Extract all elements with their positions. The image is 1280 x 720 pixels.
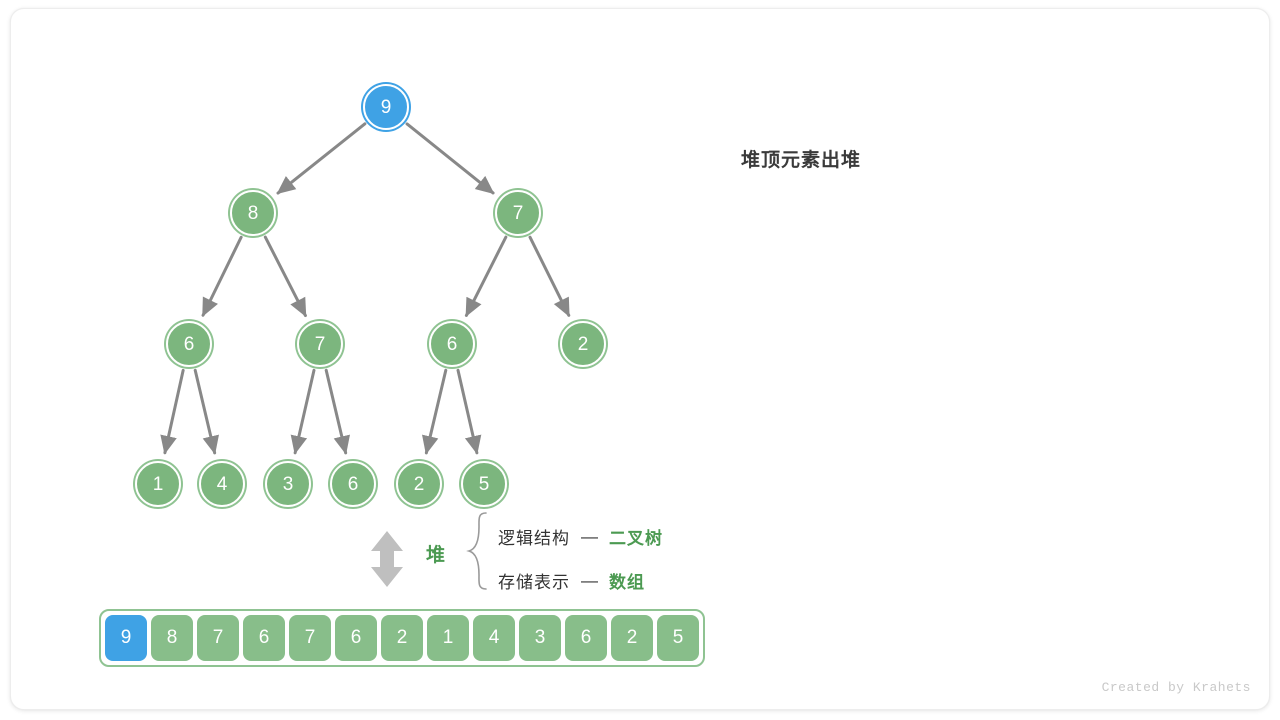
credit-text: Created by Krahets bbox=[1102, 680, 1251, 695]
diagram-card: 9876762143625 堆顶元素出堆 堆 逻辑结构 — 二叉树 存储表示 —… bbox=[10, 8, 1270, 710]
tree-node-1: 8 bbox=[230, 190, 276, 236]
brace-icon bbox=[466, 511, 492, 591]
legend-row-logical: 逻辑结构 — 二叉树 bbox=[498, 524, 663, 549]
array-cell-2: 7 bbox=[197, 615, 239, 661]
array-cell-9: 3 bbox=[519, 615, 561, 661]
array-cell-6: 2 bbox=[381, 615, 423, 661]
bidirectional-arrow-icon bbox=[366, 529, 408, 589]
tree-node-value: 2 bbox=[414, 475, 425, 494]
tree-edge bbox=[195, 370, 214, 453]
legend-dash: — bbox=[581, 527, 598, 547]
tree-node-value: 6 bbox=[184, 335, 195, 354]
tree-edge bbox=[265, 237, 305, 315]
legend-value: 数组 bbox=[609, 568, 645, 593]
tree-node-value: 1 bbox=[153, 475, 164, 494]
tree-node-2: 7 bbox=[495, 190, 541, 236]
tree-node-6: 2 bbox=[560, 321, 606, 367]
tree-edge bbox=[426, 370, 445, 453]
tree-edge bbox=[466, 237, 505, 315]
tree-edge bbox=[458, 370, 477, 452]
legend-key: 逻辑结构 bbox=[498, 524, 570, 549]
tree-node-value: 5 bbox=[479, 475, 490, 494]
legend-row-storage: 存储表示 — 数组 bbox=[498, 568, 645, 593]
array-cell-3: 6 bbox=[243, 615, 285, 661]
tree-node-5: 6 bbox=[429, 321, 475, 367]
page-title: 堆顶元素出堆 bbox=[741, 145, 861, 172]
array-cell-0: 9 bbox=[105, 615, 147, 661]
array-cell-4: 7 bbox=[289, 615, 331, 661]
array-cell-10: 6 bbox=[565, 615, 607, 661]
array-cell-5: 6 bbox=[335, 615, 377, 661]
legend-key: 存储表示 bbox=[498, 568, 570, 593]
tree-edge bbox=[295, 370, 314, 452]
array-cell-12: 5 bbox=[657, 615, 699, 661]
tree-edge bbox=[407, 124, 493, 193]
tree-node-8: 4 bbox=[199, 461, 245, 507]
tree-node-3: 6 bbox=[166, 321, 212, 367]
tree-edge bbox=[165, 370, 183, 452]
tree-node-0: 9 bbox=[363, 84, 409, 130]
tree-node-value: 7 bbox=[513, 204, 524, 223]
tree-node-12: 5 bbox=[461, 461, 507, 507]
tree-node-value: 2 bbox=[578, 335, 589, 354]
array-cell-8: 4 bbox=[473, 615, 515, 661]
heap-label: 堆 bbox=[426, 540, 445, 567]
legend-dash: — bbox=[581, 571, 598, 591]
tree-node-value: 8 bbox=[248, 204, 259, 223]
array-representation: 9876762143625 bbox=[99, 609, 705, 667]
tree-node-11: 2 bbox=[396, 461, 442, 507]
tree-node-value: 3 bbox=[283, 475, 294, 494]
tree-node-value: 7 bbox=[315, 335, 326, 354]
array-cell-1: 8 bbox=[151, 615, 193, 661]
tree-node-value: 6 bbox=[447, 335, 458, 354]
tree-node-value: 9 bbox=[381, 98, 392, 117]
tree-edge bbox=[326, 370, 345, 453]
tree-node-value: 6 bbox=[348, 475, 359, 494]
tree-node-9: 3 bbox=[265, 461, 311, 507]
tree-edge bbox=[278, 124, 365, 193]
tree-node-10: 6 bbox=[330, 461, 376, 507]
tree-node-value: 4 bbox=[217, 475, 228, 494]
tree-edge bbox=[203, 237, 241, 315]
array-cell-7: 1 bbox=[427, 615, 469, 661]
array-cell-11: 2 bbox=[611, 615, 653, 661]
tree-node-4: 7 bbox=[297, 321, 343, 367]
diagram-stage: 9876762143625 堆顶元素出堆 堆 逻辑结构 — 二叉树 存储表示 —… bbox=[11, 9, 1269, 709]
tree-edge bbox=[530, 237, 569, 315]
tree-node-7: 1 bbox=[135, 461, 181, 507]
legend-value: 二叉树 bbox=[609, 524, 663, 549]
